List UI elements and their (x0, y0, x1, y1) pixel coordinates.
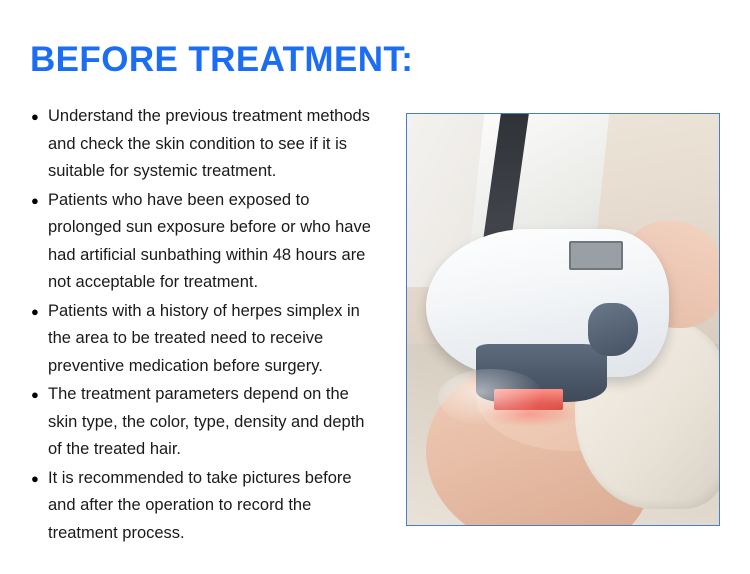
list-item-text: The treatment parameters depend on the s… (48, 385, 364, 458)
bullet-list: ● Understand the previous treatment meth… (30, 103, 380, 548)
list-item: ● The treatment parameters depend on the… (30, 381, 380, 464)
treatment-photo (406, 113, 720, 526)
bullet-dot-icon: ● (31, 381, 39, 409)
list-item-text: Patients with a history of herpes simple… (48, 302, 360, 375)
list-item: ● Patients with a history of herpes simp… (30, 298, 380, 381)
bullet-dot-icon: ● (31, 103, 39, 131)
list-item-text: Patients who have been exposed to prolon… (48, 191, 371, 292)
document-page: BEFORE TREATMENT: ● Understand the previ… (0, 0, 750, 574)
list-item: ● It is recommended to take pictures bef… (30, 465, 380, 548)
photo-skin-shine (438, 369, 544, 427)
list-item: ● Understand the previous treatment meth… (30, 103, 380, 186)
list-item: ● Patients who have been exposed to prol… (30, 187, 380, 297)
list-item-text: It is recommended to take pictures befor… (48, 469, 352, 542)
bullet-dot-icon: ● (31, 187, 39, 215)
photo-handpiece-display (569, 241, 623, 270)
list-item-text: Understand the previous treatment method… (48, 107, 370, 180)
page-title: BEFORE TREATMENT: (30, 40, 413, 80)
bullet-dot-icon: ● (31, 465, 39, 493)
photo-handpiece-grip (588, 303, 638, 356)
bullet-dot-icon: ● (31, 298, 39, 326)
